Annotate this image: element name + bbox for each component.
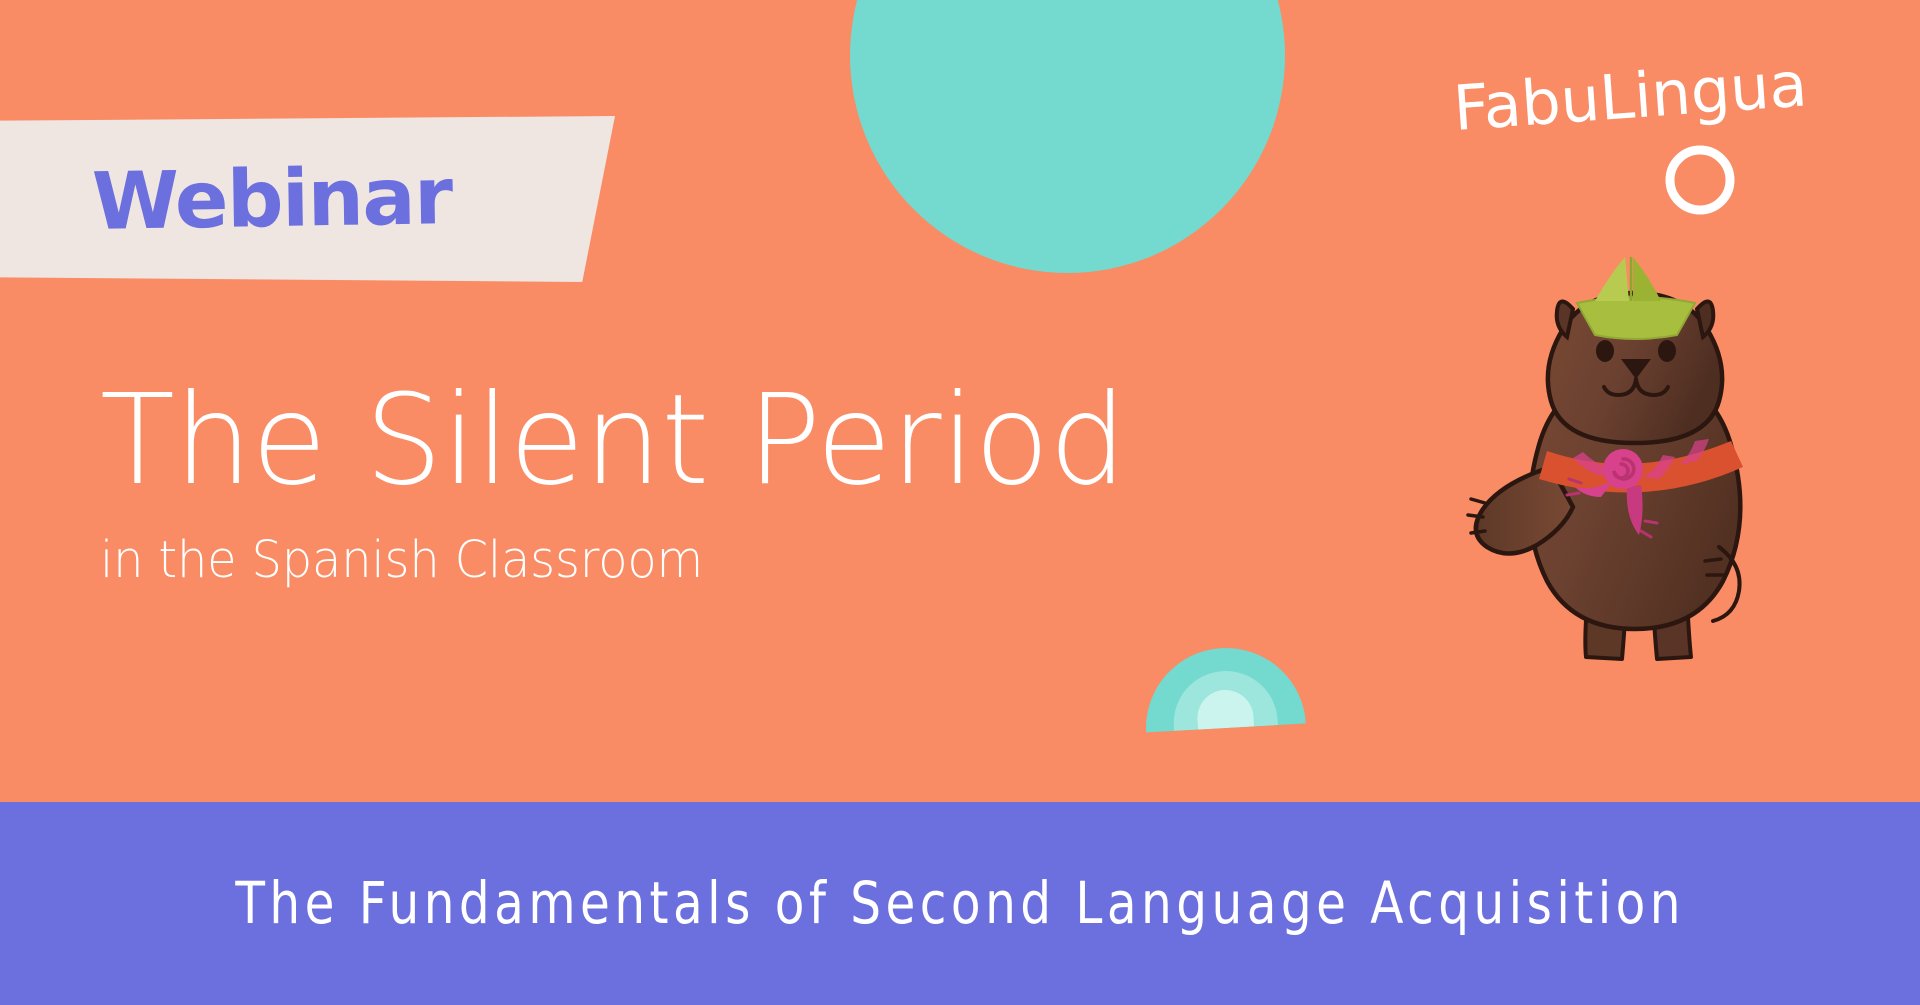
page-title: The Silent Period <box>100 378 1158 503</box>
sash-rose <box>1603 449 1643 489</box>
footer-band: The Fundamentals of Second Language Acqu… <box>0 802 1920 1005</box>
brand-ring-icon <box>1670 150 1730 210</box>
teal-circle-decoration <box>850 0 1285 273</box>
bear-left-eye <box>1596 340 1614 362</box>
webinar-badge: Webinar <box>0 116 615 282</box>
paper-boat-hat <box>1577 257 1695 339</box>
webinar-badge-label: Webinar <box>91 157 452 242</box>
webinar-promo-banner: Webinar The Silent Period in the Spanish… <box>0 0 1920 1005</box>
teal-rainbow-arch-decoration <box>1141 624 1306 733</box>
bear-right-eye <box>1658 340 1676 362</box>
brand-logo: FabuLingua <box>1455 62 1875 222</box>
footer-tagline: The Fundamentals of Second Language Acqu… <box>235 870 1685 937</box>
page-subtitle: in the Spanish Classroom <box>100 533 1115 589</box>
brand-wordmark-text: FabuLingua <box>1455 62 1810 145</box>
bear-mascot <box>1455 255 1815 685</box>
headline-block: The Silent Period in the Spanish Classro… <box>100 378 1180 589</box>
